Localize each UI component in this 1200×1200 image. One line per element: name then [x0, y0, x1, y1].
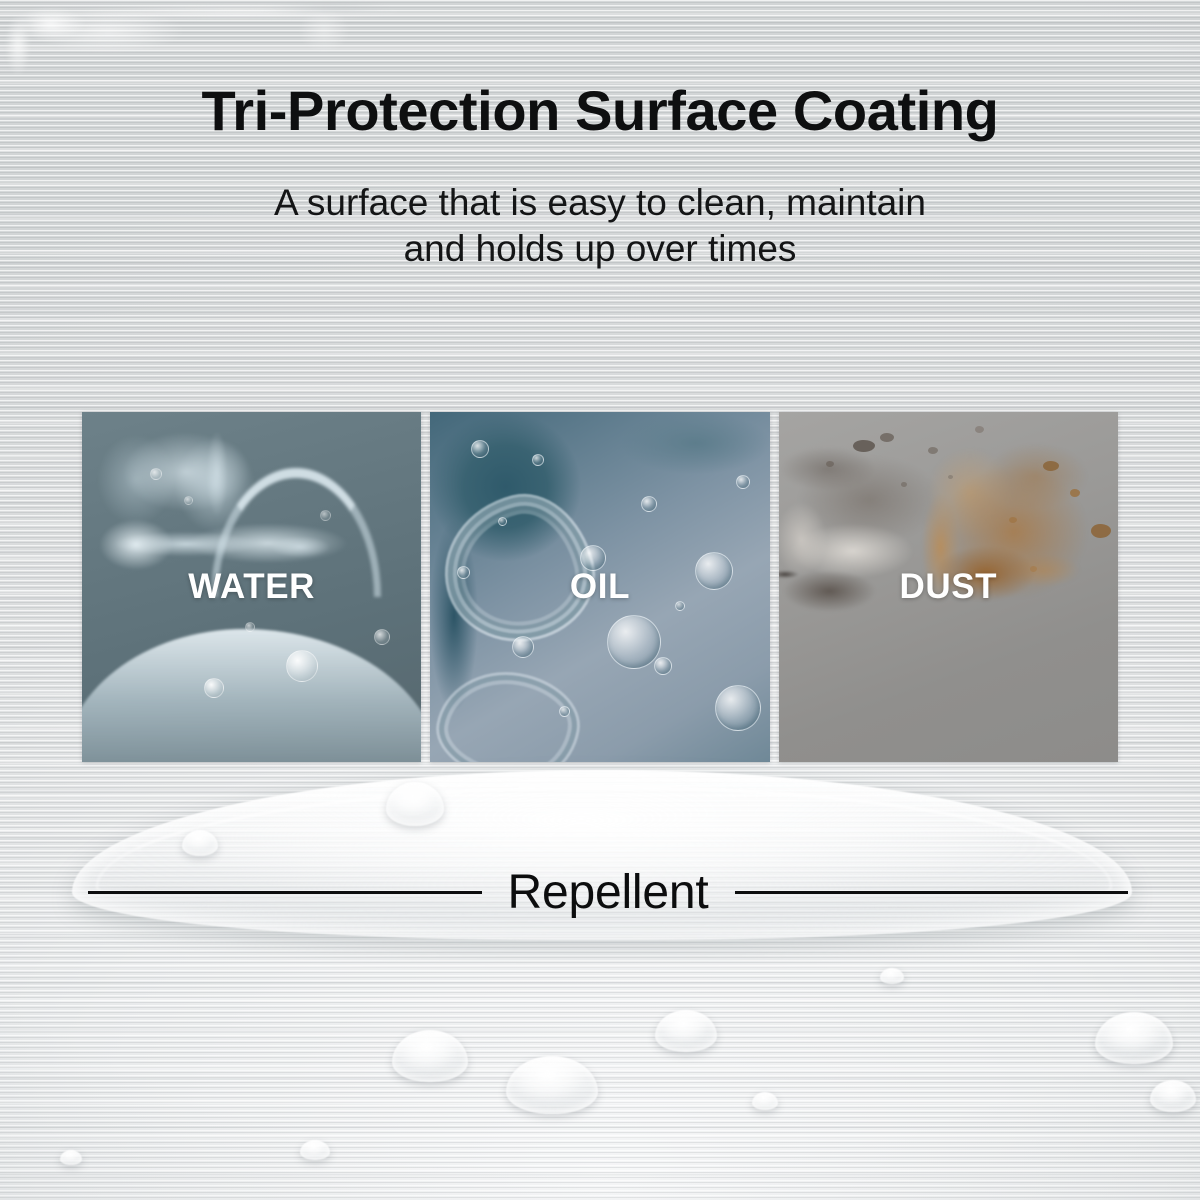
feature-panel-water[interactable]: WATER	[82, 412, 421, 762]
repellent-caption: Repellent	[500, 865, 717, 920]
feature-panel-oil[interactable]: OIL	[430, 412, 769, 762]
water-droplet	[300, 1140, 330, 1160]
water-droplet	[880, 968, 904, 984]
feature-panel-dust[interactable]: DUST	[779, 412, 1118, 762]
repellent-caption-row: Repellent	[88, 858, 1128, 926]
panel-label-oil: OIL	[430, 567, 769, 607]
water-droplet	[60, 1150, 82, 1165]
panel-label-water: WATER	[82, 567, 421, 607]
subtitle-line-1: A surface that is easy to clean, maintai…	[274, 182, 926, 223]
subtitle-line-2: and holds up over times	[0, 226, 1200, 272]
water-droplet	[752, 1092, 778, 1110]
promo-graphic: Tri-Protection Surface Coating A surface…	[0, 0, 1200, 1200]
panel-label-dust: DUST	[779, 567, 1118, 607]
divider-rule-right	[735, 891, 1129, 894]
divider-rule-left	[88, 891, 482, 894]
water-droplet	[1150, 1080, 1196, 1112]
page-subtitle: A surface that is easy to clean, maintai…	[0, 180, 1200, 273]
page-title: Tri-Protection Surface Coating	[0, 78, 1200, 143]
water-droplet	[182, 830, 218, 856]
feature-panel-group: WATER OIL	[82, 412, 1118, 762]
